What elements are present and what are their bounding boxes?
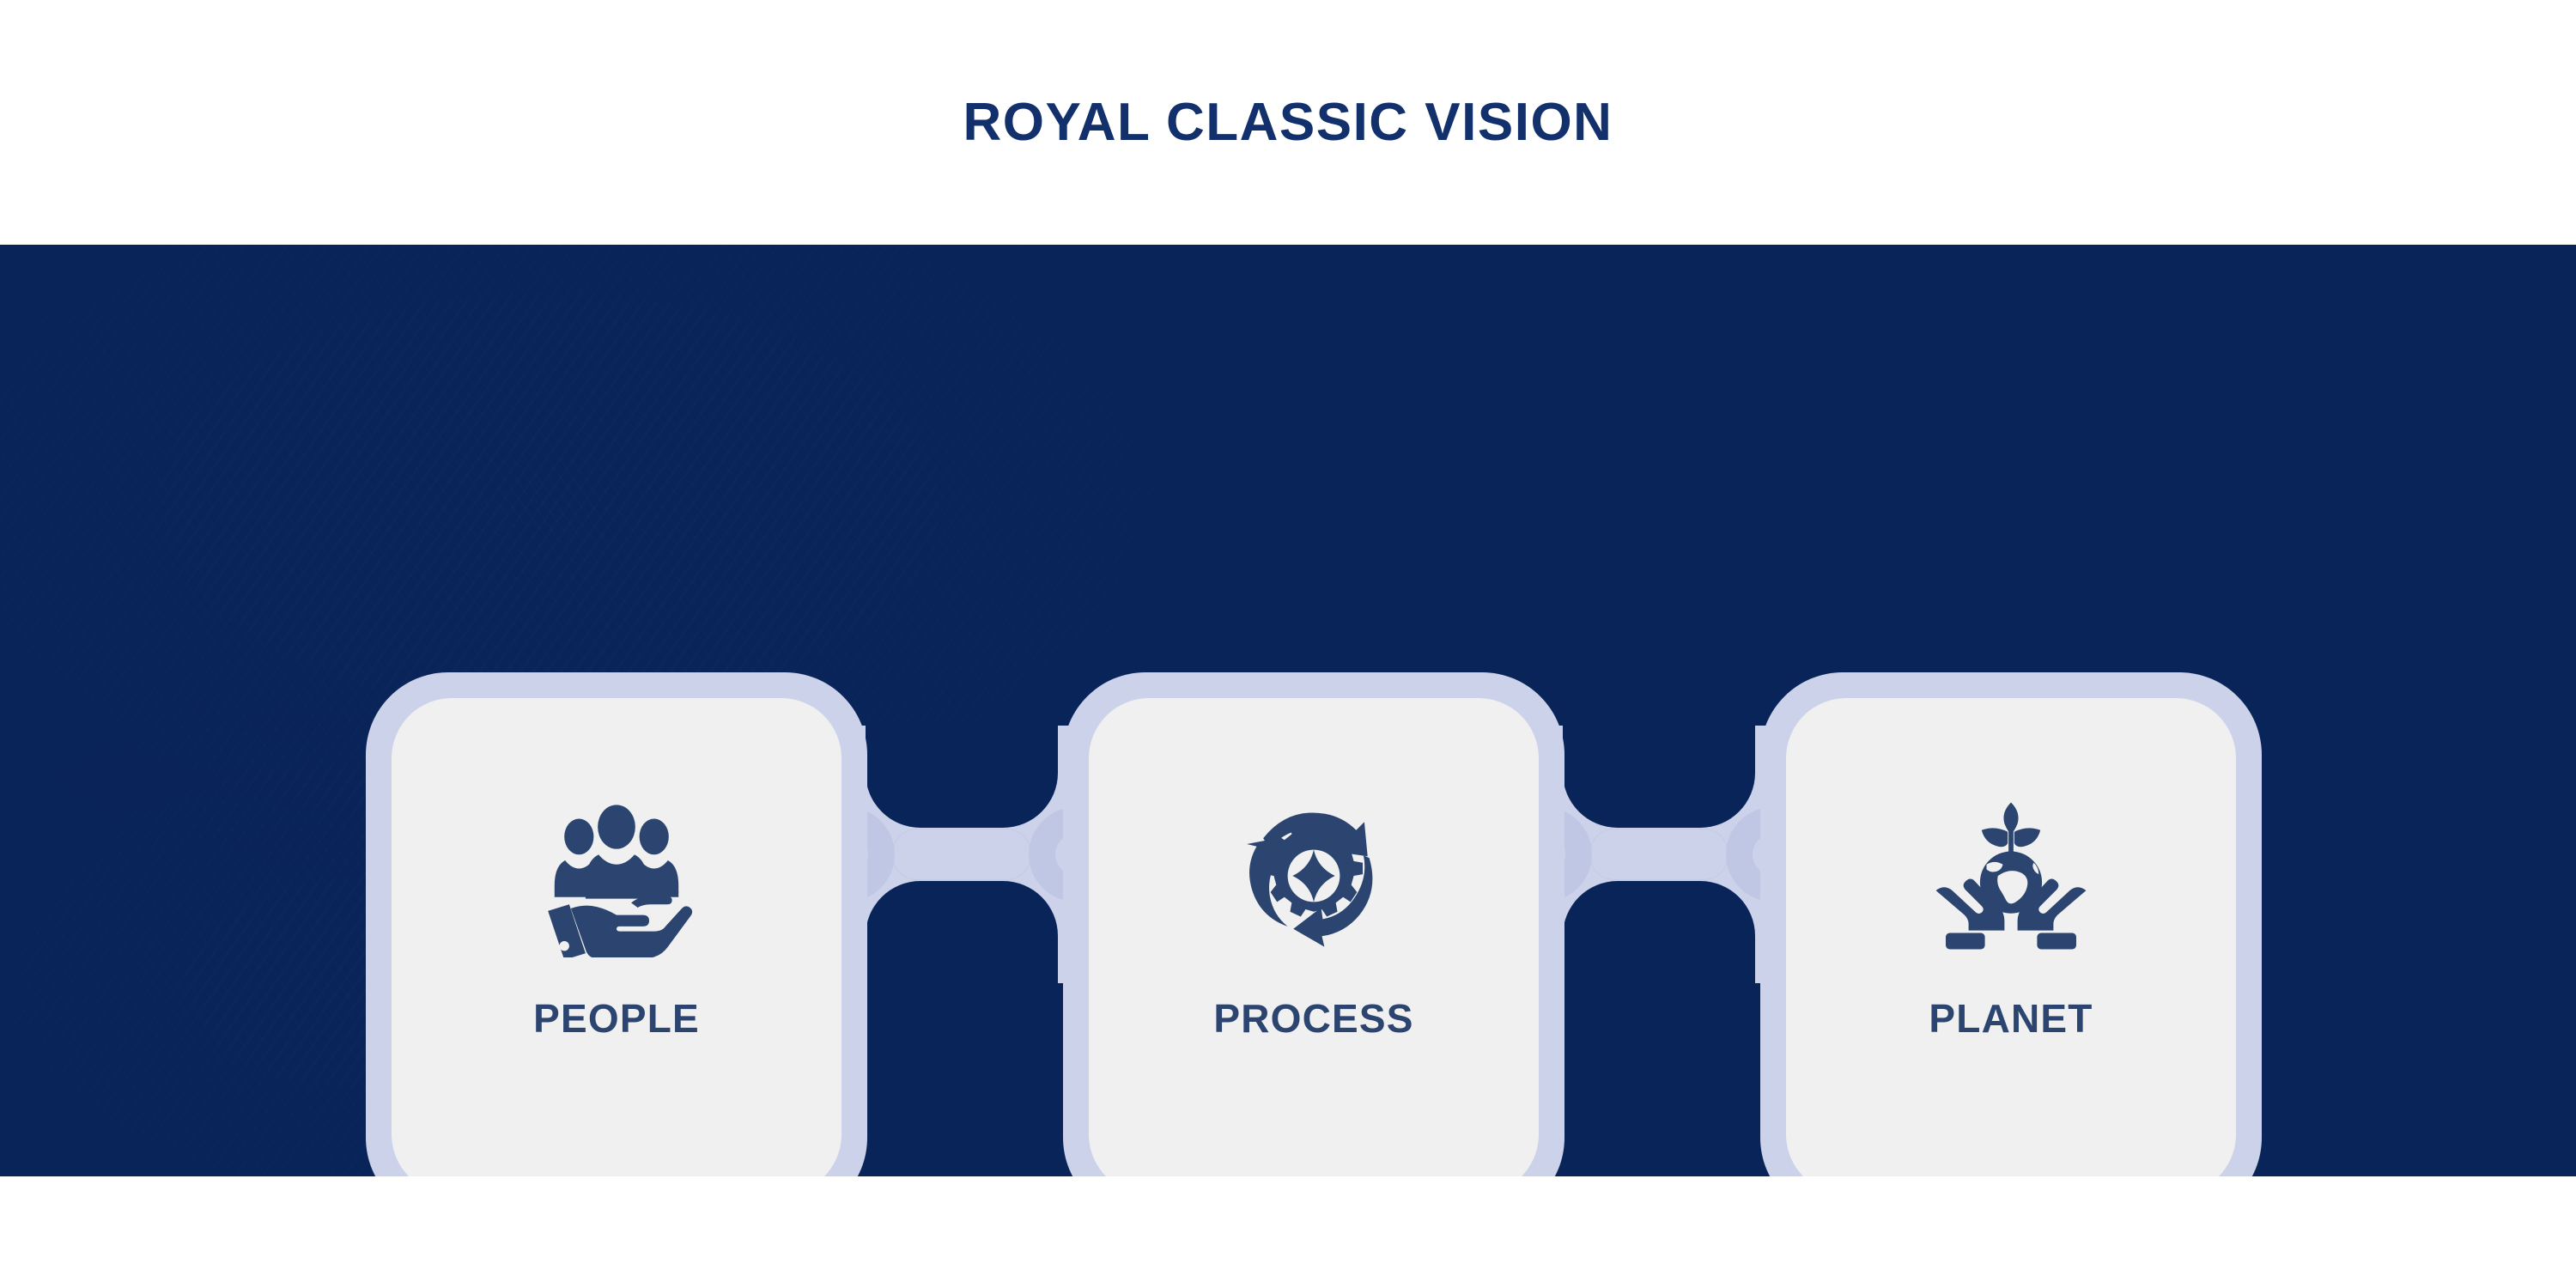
people-in-hand-icon [535,794,698,957]
infographic-canvas: ROYAL CLASSIC VISION [0,0,2576,1288]
connector-notch-top [1563,725,1755,828]
header-band: ROYAL CLASSIC VISION [0,0,2576,245]
card-process[interactable]: PROCESS [1063,672,1564,1176]
card-planet-label: PLANET [1929,999,2093,1038]
connector-notch-bottom [866,881,1058,984]
hands-holding-globe-plant-icon [1929,794,2093,957]
connector-link-outline [892,829,1031,880]
connector-notch-top [866,725,1058,828]
card-people-inner: PEOPLE [392,698,841,1176]
navy-panel: PEOPLE [0,245,2576,1176]
card-process-inner: PROCESS [1089,698,1539,1176]
card-people-label: PEOPLE [533,999,700,1038]
connector-notch-bottom [1563,881,1755,984]
connector-link-outline [1589,829,1728,880]
gear-cycle-arrows-icon [1232,794,1395,957]
card-process-label: PROCESS [1213,999,1413,1038]
card-planet-inner: PLANET [1786,698,2236,1176]
card-people[interactable]: PEOPLE [366,672,867,1176]
card-planet[interactable]: PLANET [1760,672,2262,1176]
page-title: ROYAL CLASSIC VISION [0,96,2576,149]
